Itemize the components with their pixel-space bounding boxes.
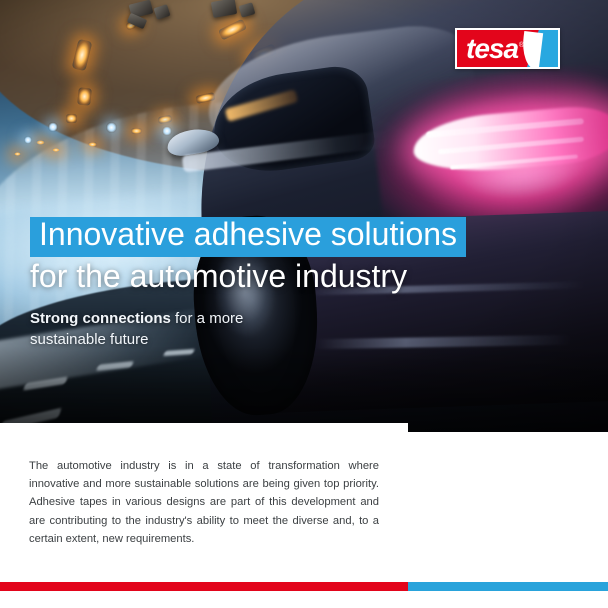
tesa-logo-wordmark: tesa® bbox=[466, 35, 523, 63]
subheadline-bold: Strong connections bbox=[30, 310, 171, 327]
subheadline-rest: for a more bbox=[171, 310, 244, 327]
headline-line-2: for the automotive industry bbox=[30, 260, 407, 294]
image-bottom-shadow bbox=[0, 346, 608, 432]
subheadline-line-2: sustainable future bbox=[30, 331, 148, 348]
body-paragraph: The automotive industry is in a state of… bbox=[29, 457, 379, 548]
headline-line-1: Innovative adhesive solutions bbox=[30, 217, 466, 257]
subheadline: Strong connections for a more sustainabl… bbox=[30, 308, 243, 351]
footer-bar-cyan bbox=[408, 582, 608, 591]
tesa-logo[interactable]: tesa® bbox=[455, 28, 560, 69]
footer-bar-red bbox=[0, 582, 408, 591]
